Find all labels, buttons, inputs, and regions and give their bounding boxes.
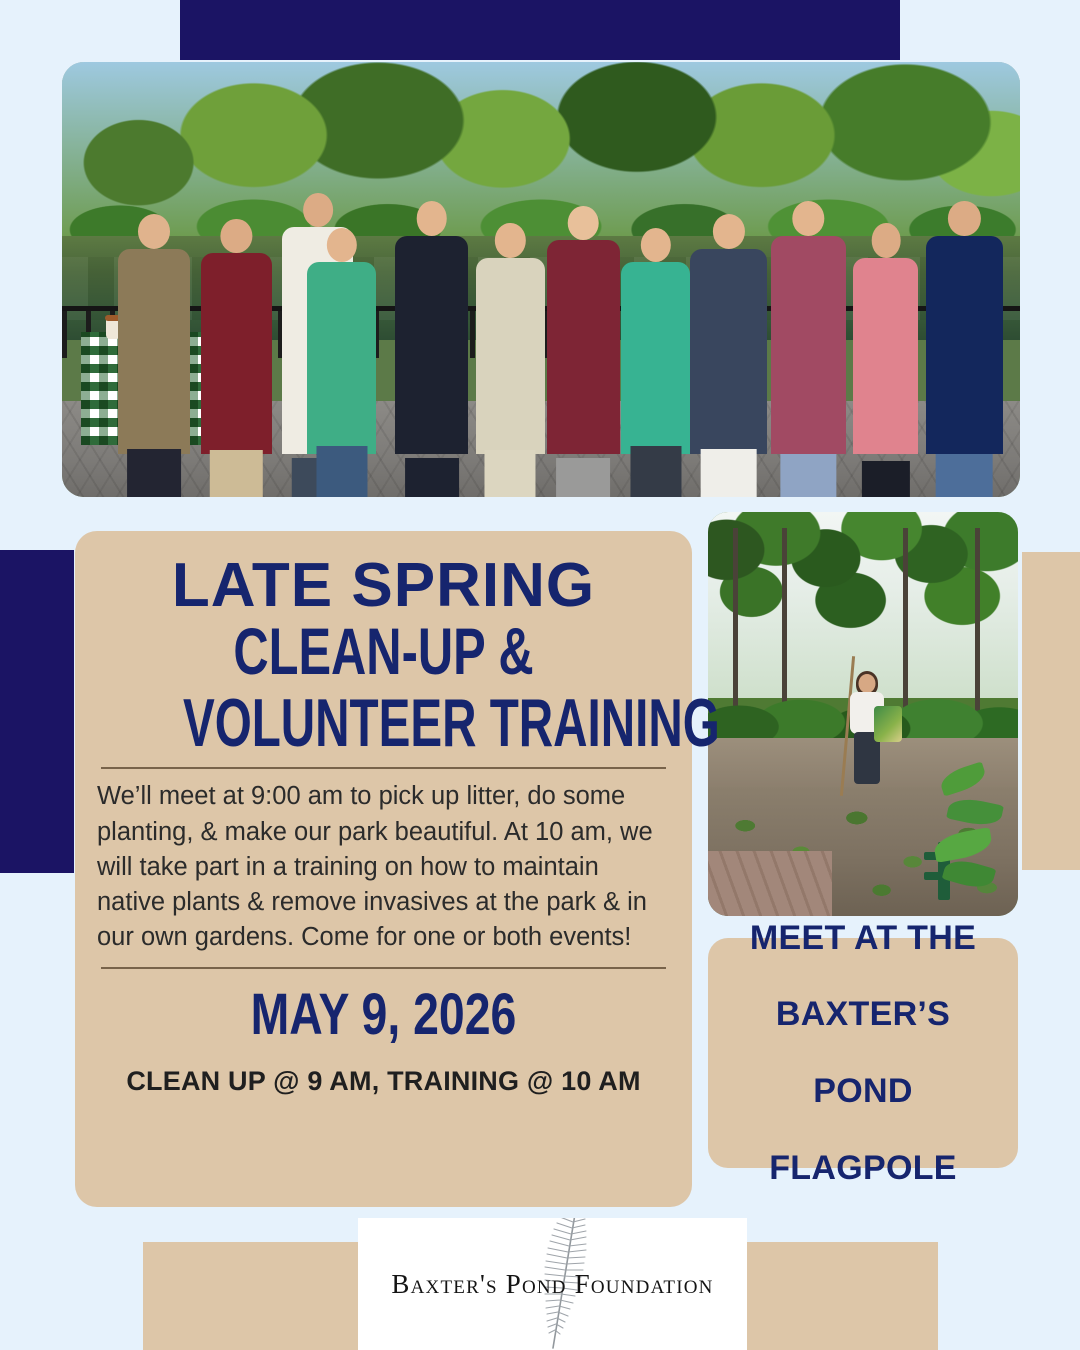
photo-person bbox=[395, 236, 468, 454]
photo-person-legs bbox=[405, 458, 459, 497]
meeting-point-line-1: MEET AT THE bbox=[750, 919, 976, 957]
photo-person bbox=[690, 249, 767, 453]
group-volunteers-at-pond-railing-photo bbox=[62, 62, 1020, 497]
photo-person bbox=[118, 249, 191, 453]
event-date: MAY 9, 2026 bbox=[154, 981, 612, 1048]
event-times: CLEAN UP @ 9 AM, TRAINING @ 10 AM bbox=[97, 1066, 670, 1097]
event-details-card: LATE SPRING CLEAN-UP & VOLUNTEER TRAININ… bbox=[75, 531, 692, 1207]
photo-person bbox=[853, 258, 918, 454]
navy-block-top bbox=[180, 0, 900, 60]
headline-line-2: CLEAN-UP & bbox=[171, 620, 595, 683]
photo-leaf bbox=[938, 761, 989, 796]
photo-leaf bbox=[932, 827, 994, 863]
photo-person-legs bbox=[127, 449, 181, 497]
photo-foreground-plant bbox=[934, 758, 1012, 908]
photo-person-head bbox=[568, 206, 599, 240]
photo-person bbox=[307, 262, 376, 453]
volunteer-with-trash-picker-photo bbox=[708, 512, 1018, 916]
photo-person bbox=[476, 258, 545, 454]
poster-canvas: LATE SPRING CLEAN-UP & VOLUNTEER TRAININ… bbox=[0, 0, 1080, 1350]
photo-person-legs bbox=[936, 454, 993, 498]
photo-person-head bbox=[713, 214, 745, 249]
meeting-point-line-4: FLAGPOLE bbox=[750, 1149, 976, 1187]
photo-leaf bbox=[941, 855, 996, 892]
photo-person-legs bbox=[862, 461, 910, 497]
foundation-logo-box: Baxter's Pond Foundation bbox=[358, 1218, 747, 1350]
photo-person-head bbox=[138, 214, 170, 249]
photo-volunteer-figure bbox=[844, 674, 890, 804]
photo-person bbox=[771, 236, 846, 454]
photo-person-head bbox=[303, 193, 333, 227]
photo-person-legs bbox=[485, 450, 536, 497]
meeting-point-line-3: POND bbox=[750, 1072, 976, 1110]
photo-collection-bag bbox=[874, 706, 902, 742]
photo-person-head bbox=[416, 201, 447, 236]
foundation-name: Baxter's Pond Foundation bbox=[391, 1269, 713, 1300]
photo-person bbox=[926, 236, 1003, 454]
photo-person-legs bbox=[781, 454, 836, 498]
photo-person-legs bbox=[556, 458, 610, 497]
meeting-point-line-2: BAXTER’S bbox=[750, 995, 976, 1033]
photo-leaf bbox=[946, 795, 1004, 830]
photo-person bbox=[621, 262, 690, 453]
photo-person-head bbox=[793, 201, 824, 236]
headline-line-3: VOLUNTEER TRAINING bbox=[183, 691, 584, 756]
photo-volunteer-head bbox=[859, 674, 876, 693]
photo-brick-edging bbox=[708, 851, 832, 916]
photo-person-head bbox=[221, 219, 252, 253]
tan-block-right bbox=[1022, 552, 1080, 870]
meeting-point-box: MEET AT THE BAXTER’S POND FLAGPOLE bbox=[708, 938, 1018, 1168]
photo-person-legs bbox=[630, 446, 681, 497]
photo-person-legs bbox=[316, 446, 367, 497]
photo-person-legs bbox=[700, 449, 757, 497]
event-description: We’ll meet at 9:00 am to pick up litter,… bbox=[97, 779, 670, 955]
photo-person-head bbox=[948, 201, 980, 236]
divider-top bbox=[101, 767, 666, 769]
divider-bottom bbox=[101, 967, 666, 969]
photo-person bbox=[547, 240, 620, 453]
photo-person-head bbox=[872, 223, 901, 258]
photo-person bbox=[201, 253, 272, 453]
navy-block-left bbox=[0, 550, 74, 873]
headline-line-1: LATE SPRING bbox=[97, 557, 670, 614]
photo-person-legs bbox=[210, 450, 262, 498]
meeting-point-text: MEET AT THE BAXTER’S POND FLAGPOLE bbox=[750, 919, 976, 1188]
